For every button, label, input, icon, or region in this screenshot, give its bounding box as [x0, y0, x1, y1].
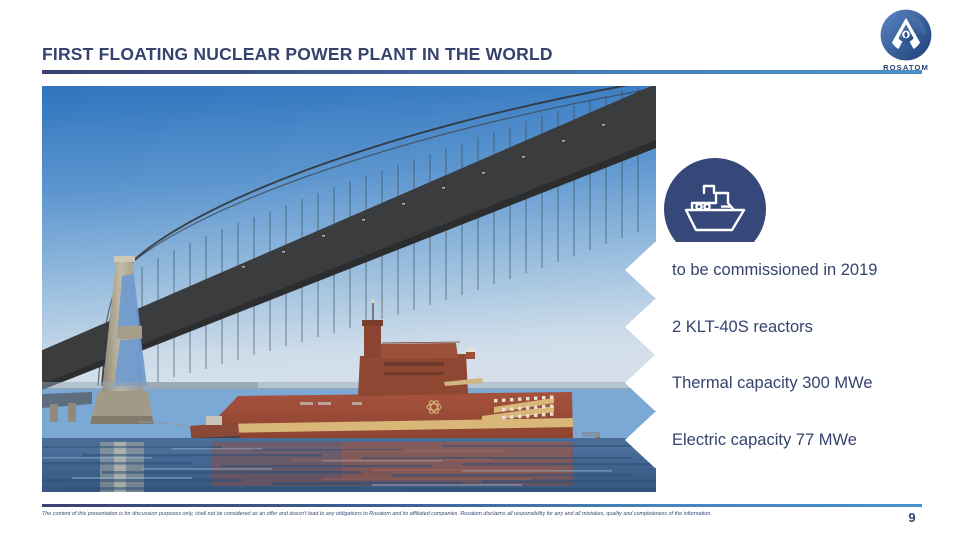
- rosatom-logo-icon: [879, 8, 933, 62]
- photo-illustration: [42, 86, 656, 492]
- callout-electric-capacity: Electric capacity 77 MWe: [625, 412, 960, 468]
- ship-icon: [682, 183, 748, 235]
- callout-commissioning: to be commissioned in 2019: [625, 242, 960, 298]
- footer-divider: [42, 504, 922, 507]
- page-title: FIRST FLOATING NUCLEAR POWER PLANT IN TH…: [42, 44, 553, 65]
- title-divider: [42, 70, 922, 74]
- rosatom-logo: ROSATOM: [870, 8, 942, 72]
- callout-label: Electric capacity 77 MWe: [672, 431, 857, 450]
- rosatom-wordmark: ROSATOM: [870, 63, 942, 72]
- callout-label: to be commissioned in 2019: [672, 261, 877, 280]
- callout-label: Thermal capacity 300 MWe: [672, 374, 873, 393]
- callout-label: 2 KLT-40S reactors: [672, 318, 813, 337]
- page-number: 9: [900, 510, 924, 525]
- callout-reactors: 2 KLT-40S reactors: [625, 299, 960, 355]
- callout-thermal-capacity: Thermal capacity 300 MWe: [625, 355, 960, 411]
- floating-npp-photo: [42, 86, 656, 492]
- disclaimer-text: The content of this presentation is for …: [42, 511, 832, 519]
